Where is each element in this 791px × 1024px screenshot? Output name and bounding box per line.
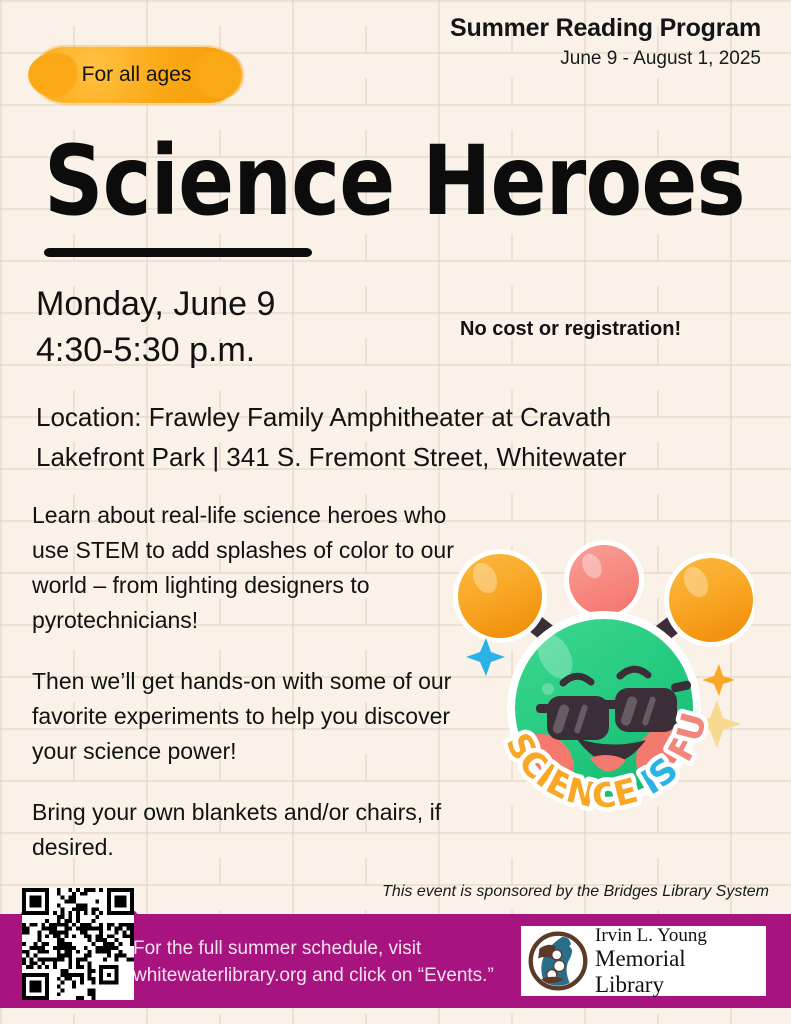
poster-root: Summer Reading Program June 9 - August 1… <box>0 0 791 1024</box>
event-description: Learn about real-life science heroes who… <box>32 498 462 865</box>
program-dates: June 9 - August 1, 2025 <box>450 48 761 71</box>
atom-orange-left <box>453 549 547 643</box>
library-logo-mark <box>527 930 589 992</box>
sparkle-orange <box>702 664 735 696</box>
science-is-fun-sticker: SCIENCE IS FUN <box>452 528 754 823</box>
footer-cta-line-2: whitewaterlibrary.org and click on “Even… <box>133 963 494 990</box>
footer-cta: For the full summer schedule, visit whit… <box>133 936 494 990</box>
event-location: Location: Frawley Family Amphitheater at… <box>36 398 726 477</box>
library-logo-text: Irvin L. Young Memorial Library <box>595 925 760 998</box>
library-name-line-1: Irvin L. Young <box>595 925 760 946</box>
qr-code[interactable] <box>22 888 134 1000</box>
description-paragraph: Then we’ll get hands-on with some of our… <box>32 664 462 769</box>
event-datetime: Monday, June 9 4:30-5:30 p.m. <box>36 282 275 373</box>
event-location-line-2: Lakefront Park | 341 S. Fremont Street, … <box>36 438 726 478</box>
audience-badge-label: For all ages <box>82 63 192 87</box>
event-day: Monday, June 9 <box>36 282 275 328</box>
library-logo: Irvin L. Young Memorial Library <box>521 926 766 996</box>
sponsor-note: This event is sponsored by the Bridges L… <box>382 883 769 901</box>
event-time: 4:30-5:30 p.m. <box>36 328 275 374</box>
description-paragraph: Learn about real-life science heroes who… <box>32 498 462 638</box>
library-name-line-2: Memorial Library <box>595 946 760 998</box>
program-title: Summer Reading Program <box>450 14 761 43</box>
footer-cta-line-1: For the full summer schedule, visit <box>133 936 494 963</box>
audience-badge: For all ages <box>34 47 239 103</box>
title-underline <box>44 248 312 257</box>
program-header: Summer Reading Program June 9 - August 1… <box>450 14 761 71</box>
atom-orange-right <box>664 553 754 647</box>
atom-pink-top <box>564 540 644 620</box>
page-title: Science Heroes <box>44 133 745 229</box>
event-location-line-1: Location: Frawley Family Amphitheater at… <box>36 398 726 438</box>
sparkle-blue <box>466 638 505 676</box>
cost-note: No cost or registration! <box>460 318 681 341</box>
description-paragraph: Bring your own blankets and/or chairs, i… <box>32 795 462 865</box>
